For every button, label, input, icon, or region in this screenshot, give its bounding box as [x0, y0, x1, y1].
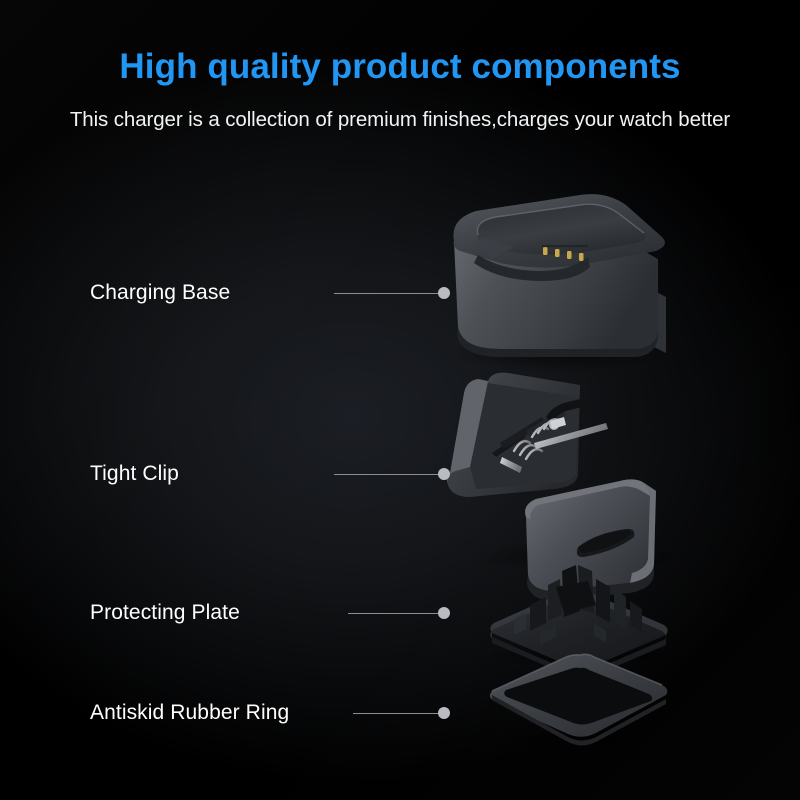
leader-protecting-plate — [348, 606, 450, 620]
leader-line — [334, 293, 439, 294]
callout-charging-base: Charging Base — [90, 278, 230, 308]
leader-line — [348, 613, 439, 614]
callout-label-antiskid-rubber-ring: Antiskid Rubber Ring — [90, 701, 289, 725]
callout-label-protecting-plate: Protecting Plate — [90, 601, 240, 625]
leader-dot — [438, 468, 450, 480]
leader-charging-base — [334, 286, 450, 300]
callout-antiskid-rubber-ring: Antiskid Rubber Ring — [90, 698, 289, 728]
callout-label-tight-clip: Tight Clip — [90, 462, 179, 486]
leader-tight-clip — [334, 467, 450, 481]
leader-dot — [438, 607, 450, 619]
callout-list: Charging Base Tight Clip Protecting Plat… — [0, 0, 800, 800]
leader-antiskid-rubber-ring — [353, 706, 450, 720]
leader-dot — [438, 707, 450, 719]
callout-label-charging-base: Charging Base — [90, 281, 230, 305]
callout-protecting-plate: Protecting Plate — [90, 598, 240, 628]
infographic-canvas: High quality product components This cha… — [0, 0, 800, 800]
callout-tight-clip: Tight Clip — [90, 459, 179, 489]
leader-dot — [438, 287, 450, 299]
leader-line — [334, 474, 439, 475]
leader-line — [353, 713, 439, 714]
